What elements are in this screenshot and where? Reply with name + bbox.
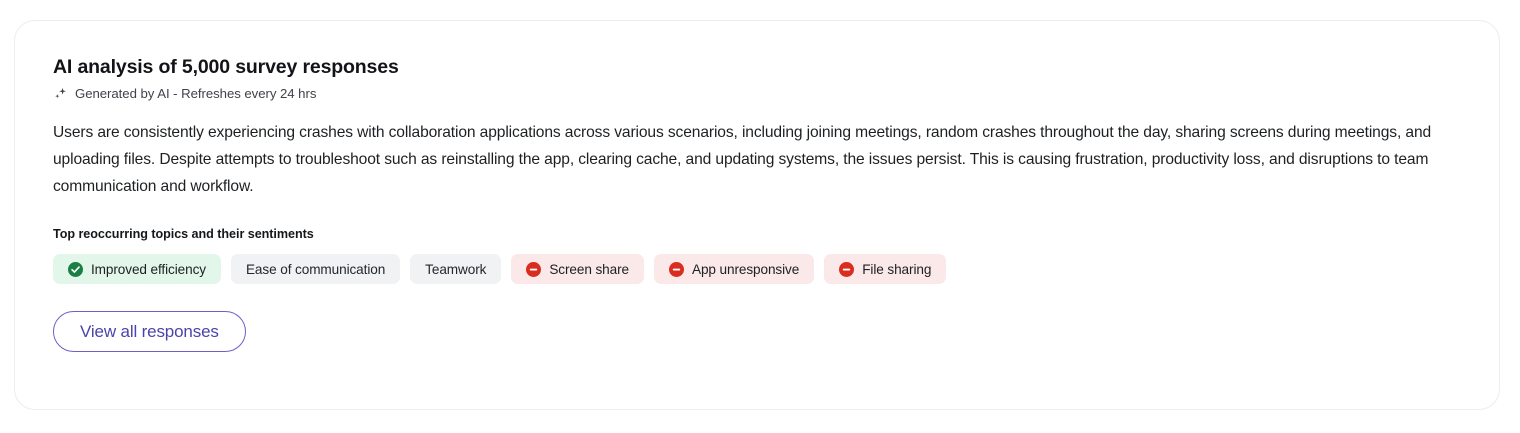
topic-chip-label: File sharing: [862, 262, 931, 277]
sparkle-icon: [53, 86, 68, 101]
topic-chip-label: Improved efficiency: [91, 262, 206, 277]
view-all-responses-button[interactable]: View all responses: [53, 311, 246, 352]
ai-attribution-row: Generated by AI - Refreshes every 24 hrs: [53, 86, 1469, 101]
topic-chip[interactable]: Screen share: [511, 254, 644, 284]
minus-circle-icon: [526, 262, 541, 277]
analysis-summary-text: Users are consistently experiencing cras…: [53, 119, 1463, 200]
topic-chip[interactable]: Teamwork: [410, 254, 501, 284]
topic-chip[interactable]: App unresponsive: [654, 254, 814, 284]
topic-chip-label: Ease of communication: [246, 262, 385, 277]
ai-attribution-text: Generated by AI - Refreshes every 24 hrs: [75, 87, 316, 100]
topics-section-label: Top reoccurring topics and their sentime…: [53, 227, 1469, 241]
topic-chip[interactable]: Ease of communication: [231, 254, 400, 284]
topic-chip-label: Teamwork: [425, 262, 486, 277]
minus-circle-icon: [839, 262, 854, 277]
topic-chip-label: App unresponsive: [692, 262, 799, 277]
topic-chip[interactable]: Improved efficiency: [53, 254, 221, 284]
page-title: AI analysis of 5,000 survey responses: [53, 56, 1469, 79]
topic-chip[interactable]: File sharing: [824, 254, 946, 284]
card-actions: View all responses: [53, 311, 1469, 352]
ai-analysis-card: AI analysis of 5,000 survey responses Ge…: [14, 20, 1500, 410]
check-circle-icon: [68, 262, 83, 277]
topic-chip-label: Screen share: [549, 262, 629, 277]
minus-circle-icon: [669, 262, 684, 277]
topic-chip-list: Improved efficiencyEase of communication…: [53, 254, 1469, 284]
card-content: AI analysis of 5,000 survey responses Ge…: [53, 56, 1469, 352]
